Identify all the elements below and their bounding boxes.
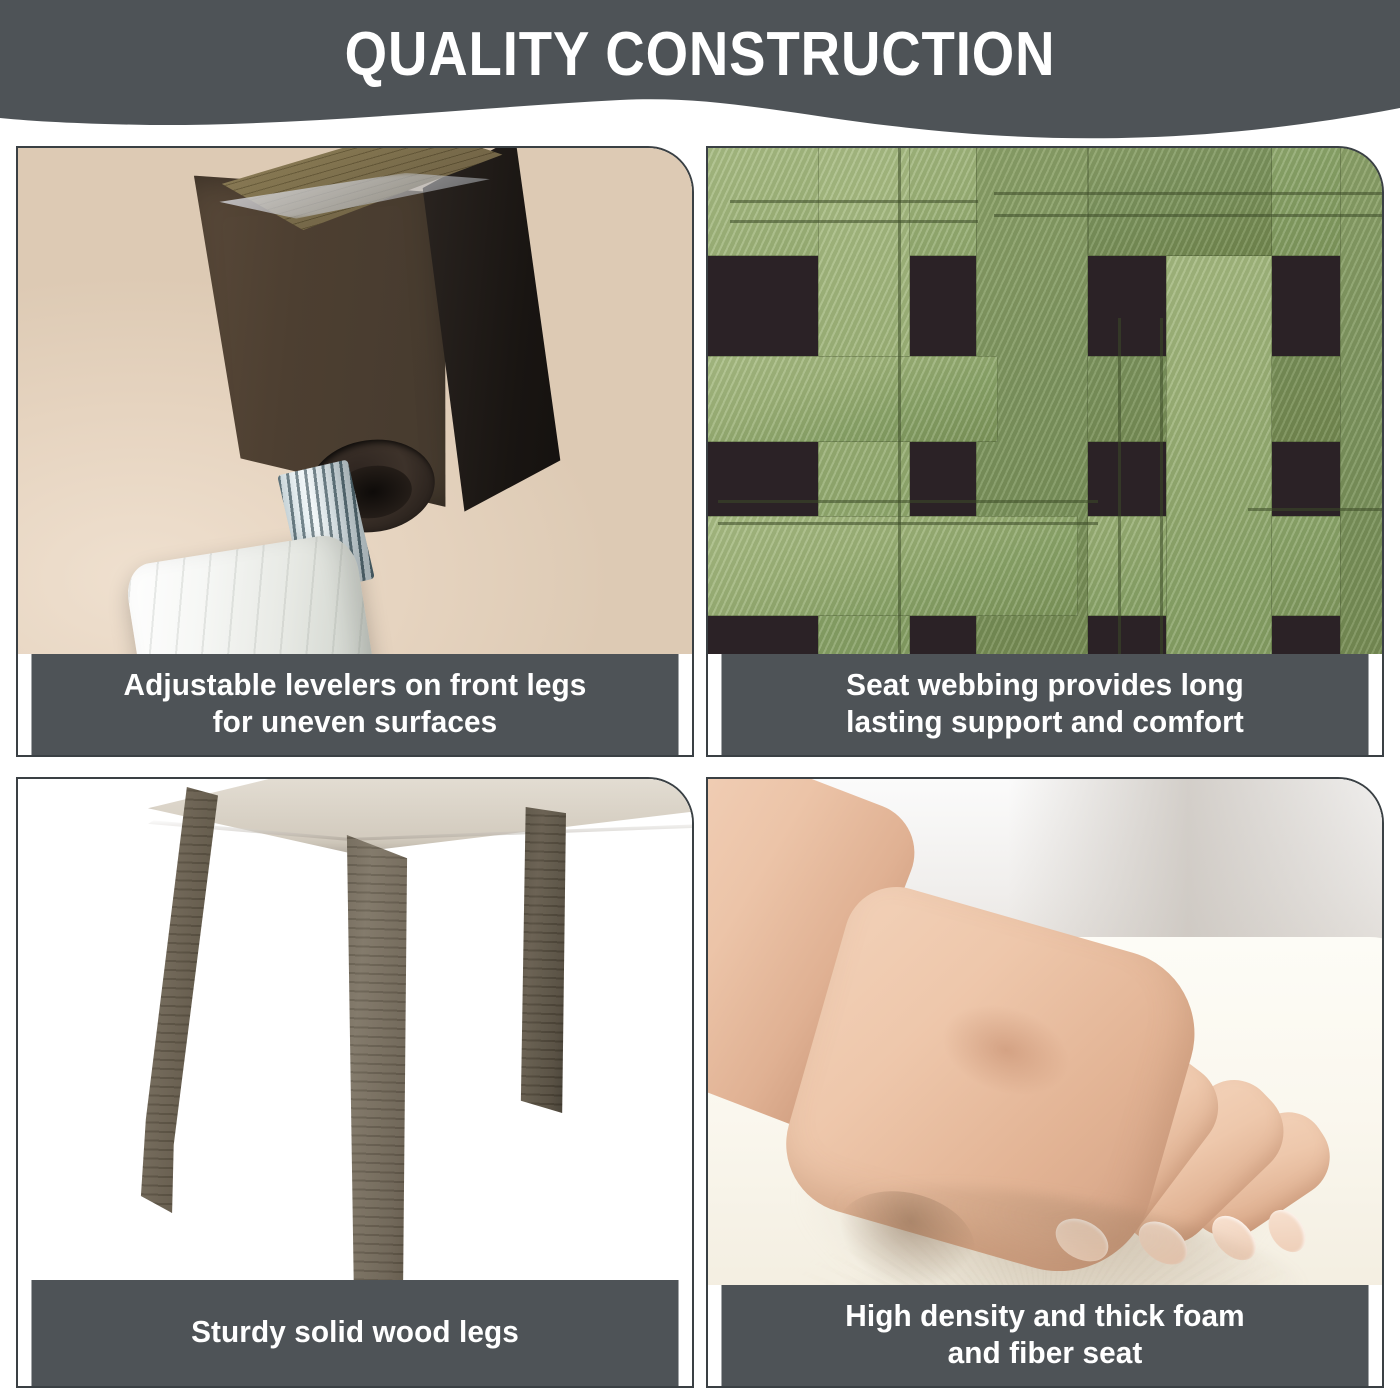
webbing-seam — [730, 220, 978, 223]
caption-line-1: Seat webbing provides long — [731, 667, 1359, 703]
pressing-hand — [708, 779, 1382, 1275]
feature-panel-solid-wood-legs[interactable]: Sturdy solid wood legs — [16, 777, 694, 1388]
webbing-seam — [1118, 318, 1121, 654]
caption-line-1: High density and thick foam — [731, 1298, 1359, 1334]
caption-line-1: Sturdy solid wood legs — [41, 1314, 669, 1350]
feature-panel-adjustable-levelers[interactable]: Adjustable levelers on front legs for un… — [16, 146, 694, 757]
page-title: QUALITY CONSTRUCTION — [84, 22, 1316, 87]
wood-legs-photo — [18, 779, 692, 1280]
foam-photo — [708, 779, 1382, 1285]
webbing-weave-overlap — [708, 356, 998, 442]
caption-line-2: for uneven surfaces — [41, 704, 669, 740]
caption-adjustable-levelers: Adjustable levelers on front legs for un… — [31, 654, 678, 755]
caption-solid-wood-legs: Sturdy solid wood legs — [31, 1280, 678, 1386]
header-banner: QUALITY CONSTRUCTION — [0, 0, 1400, 150]
webbing-seam — [994, 192, 1382, 195]
leveler-photo — [18, 148, 692, 654]
caption-line-2: lasting support and comfort — [731, 704, 1359, 740]
webbing-seam — [1160, 318, 1163, 654]
webbing-seam — [730, 200, 978, 203]
caption-high-density-foam: High density and thick foam and fiber se… — [721, 1285, 1368, 1386]
caption-seat-webbing: Seat webbing provides long lasting suppo… — [721, 654, 1368, 755]
feature-grid: Adjustable levelers on front legs for un… — [16, 146, 1384, 1388]
seat-webbing-photo — [708, 148, 1382, 654]
webbing-strap-vertical — [1340, 148, 1382, 654]
webbing-seam — [718, 522, 1098, 525]
webbing-weave-overlap — [1088, 148, 1272, 256]
caption-line-2: and fiber seat — [731, 1335, 1359, 1371]
webbing-seam — [1248, 508, 1382, 511]
feature-panel-seat-webbing[interactable]: Seat webbing provides long lasting suppo… — [706, 146, 1384, 757]
webbing-seam — [994, 214, 1382, 217]
feature-panel-high-density-foam[interactable]: High density and thick foam and fiber se… — [706, 777, 1384, 1388]
leg-wood-grain — [518, 807, 566, 1113]
webbing-weave-overlap — [708, 516, 1078, 616]
wood-leg-rear-right — [518, 807, 566, 1113]
webbing-seam — [718, 500, 1098, 503]
webbing-seam — [898, 148, 901, 654]
caption-line-1: Adjustable levelers on front legs — [41, 667, 669, 703]
